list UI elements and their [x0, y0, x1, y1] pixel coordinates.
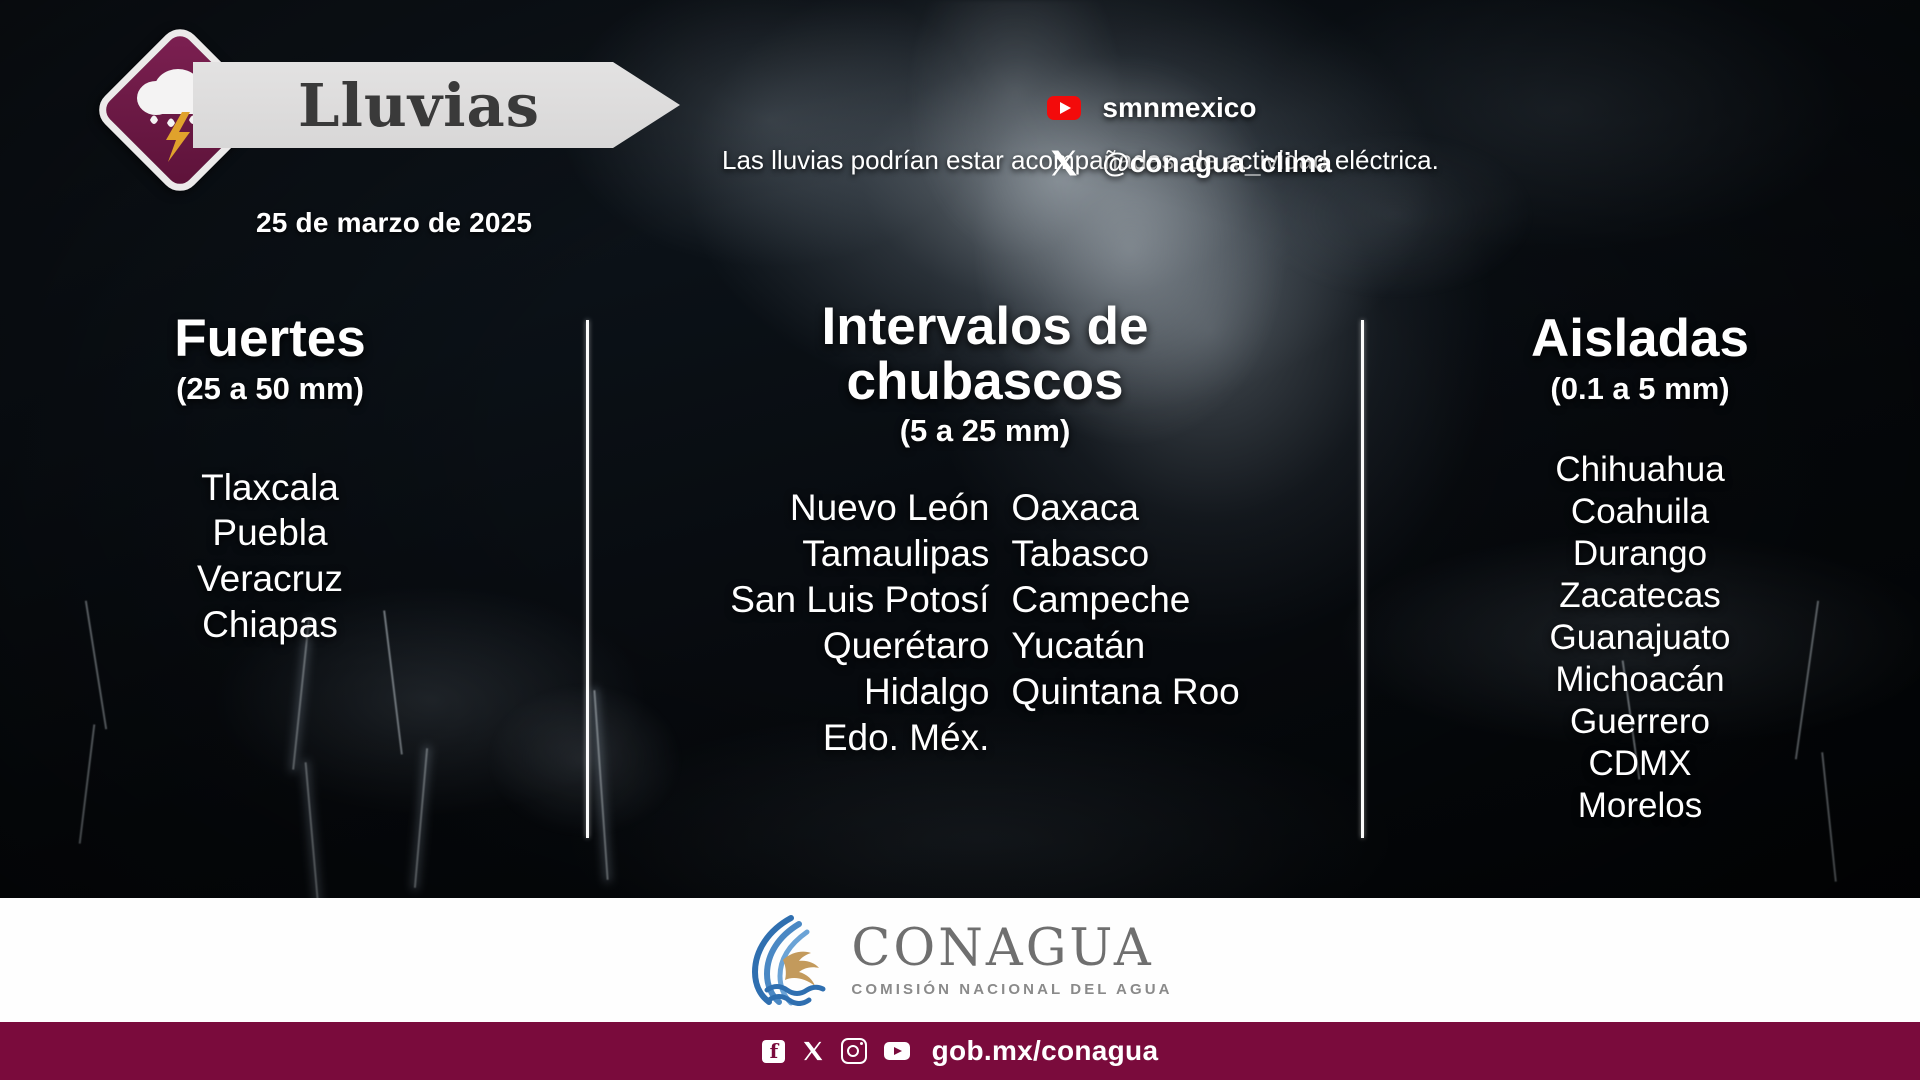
instagram-icon[interactable]	[841, 1038, 867, 1064]
column-divider-right	[1361, 320, 1364, 838]
list-item: Morelos	[1420, 785, 1860, 827]
list-item: Tabasco	[1011, 531, 1239, 577]
column-range-chubascos: (5 a 25 mm)	[640, 413, 1330, 449]
social-row-x[interactable]: @conagua_clima	[1044, 140, 1332, 186]
column-range-fuertes: (25 a 50 mm)	[60, 371, 480, 407]
social-handles: smnmexico @conagua_clima	[1044, 85, 1332, 195]
state-list-aisladas: Chihuahua Coahuila Durango Zacatecas Gua…	[1420, 449, 1860, 827]
page-title: Lluvias	[298, 76, 540, 135]
x-twitter-icon	[1044, 148, 1084, 178]
list-item: Puebla	[60, 510, 480, 556]
list-item: Coahuila	[1420, 491, 1860, 533]
list-item: Chiapas	[60, 602, 480, 648]
youtube-handle: smnmexico	[1102, 92, 1256, 124]
x-handle: @conagua_clima	[1102, 147, 1332, 179]
list-item: Campeche	[1011, 577, 1239, 623]
column-aisladas: Aisladas (0.1 a 5 mm) Chihuahua Coahuila…	[1420, 312, 1860, 827]
x-twitter-icon[interactable]	[802, 1040, 824, 1062]
list-item: San Luis Potosí	[730, 577, 989, 623]
column-range-aisladas: (0.1 a 5 mm)	[1420, 371, 1860, 407]
list-item: Querétaro	[730, 623, 989, 669]
footer-social-bar: gob.mx/conagua	[0, 1022, 1920, 1080]
list-item: Oaxaca	[1011, 485, 1239, 531]
youtube-icon	[1044, 96, 1084, 120]
state-list-chubascos-left: Nuevo León Tamaulipas San Luis Potosí Qu…	[730, 485, 989, 760]
footer-logo-bar: CONAGUA COMISIÓN NACIONAL DEL AGUA	[0, 898, 1920, 1022]
org-subtitle: COMISIÓN NACIONAL DEL AGUA	[851, 981, 1172, 998]
list-item: Chihuahua	[1420, 449, 1860, 491]
state-list-chubascos-right: Oaxaca Tabasco Campeche Yucatán Quintana…	[1011, 485, 1239, 760]
list-item: Tamaulipas	[730, 531, 989, 577]
list-item: Zacatecas	[1420, 575, 1860, 617]
list-item: Guerrero	[1420, 701, 1860, 743]
list-item: Yucatán	[1011, 623, 1239, 669]
youtube-icon[interactable]	[884, 1042, 910, 1060]
column-fuertes: Fuertes (25 a 50 mm) Tlaxcala Puebla Ver…	[60, 312, 480, 648]
lluvias-title-banner: Lluvias	[193, 62, 680, 148]
list-item: Tlaxcala	[60, 465, 480, 511]
infographic-canvas: Lluvias 25 de marzo de 2025 Las lluvias …	[0, 0, 1920, 1080]
footer-social-icons	[762, 1038, 910, 1064]
facebook-icon[interactable]	[762, 1040, 785, 1063]
state-lists-chubascos: Nuevo León Tamaulipas San Luis Potosí Qu…	[640, 485, 1330, 760]
social-row-youtube[interactable]: smnmexico	[1044, 85, 1332, 131]
forecast-date: 25 de marzo de 2025	[256, 207, 532, 239]
heading-line-2: chubascos	[640, 355, 1330, 410]
list-item: Durango	[1420, 533, 1860, 575]
list-item: Guanajuato	[1420, 617, 1860, 659]
conagua-wordmark: CONAGUA COMISIÓN NACIONAL DEL AGUA	[851, 923, 1172, 998]
state-list-fuertes: Tlaxcala Puebla Veracruz Chiapas	[60, 465, 480, 649]
list-item: Nuevo León	[730, 485, 989, 531]
list-item: Hidalgo	[730, 669, 989, 715]
column-heading-fuertes: Fuertes	[60, 312, 480, 367]
conagua-eagle-wave-logo	[747, 914, 833, 1006]
list-item: Quintana Roo	[1011, 669, 1239, 715]
list-item: Michoacán	[1420, 659, 1860, 701]
list-item: Veracruz	[60, 556, 480, 602]
org-name: CONAGUA	[851, 923, 1172, 974]
conagua-logo: CONAGUA COMISIÓN NACIONAL DEL AGUA	[747, 914, 1172, 1006]
column-heading-aisladas: Aisladas	[1420, 312, 1860, 367]
list-item: CDMX	[1420, 743, 1860, 785]
column-heading-chubascos: Intervalos de chubascos	[640, 300, 1330, 409]
website-url[interactable]: gob.mx/conagua	[932, 1035, 1159, 1067]
column-divider-left	[586, 320, 589, 838]
column-chubascos: Intervalos de chubascos (5 a 25 mm) Nuev…	[640, 300, 1330, 760]
heading-line-1: Intervalos de	[640, 300, 1330, 355]
list-item: Edo. Méx.	[730, 715, 989, 761]
